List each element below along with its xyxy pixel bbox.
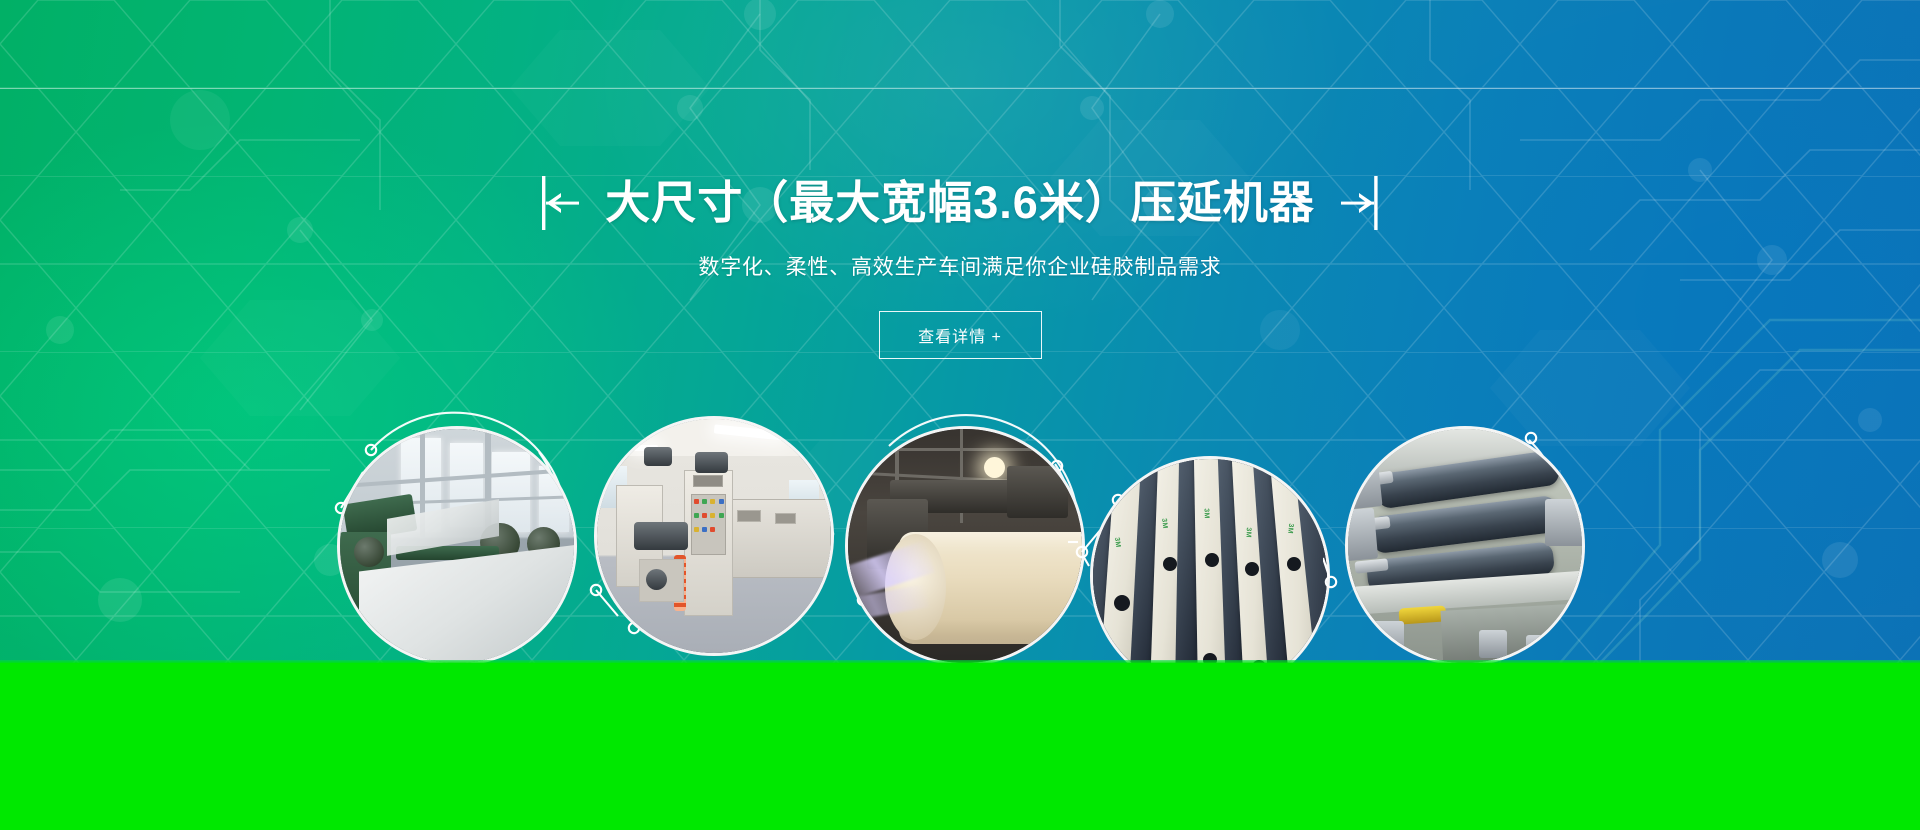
gallery-item-calender-rollers — [1323, 410, 1608, 663]
photo-fabric-roll-winding[interactable] — [845, 426, 1085, 663]
header-divider-line — [0, 88, 1920, 89]
view-details-button[interactable]: 查看详情 + — [879, 311, 1042, 359]
photo-calender-rollers[interactable] — [1345, 426, 1585, 663]
gallery-item-silicone-strips-3m-liner: 3M 3M 3M 3M 3M — [1068, 410, 1348, 663]
page-subtitle: 数字化、柔性、高效生产车间满足你企业硅胶制品需求 — [0, 253, 1920, 283]
hero-copy-block: 大尺寸（最大宽幅3.6米）压延机器 数字化、柔性、高效生产车间满足你企业硅胶制品… — [0, 168, 1920, 359]
photo-silicone-strips-3m-liner[interactable]: 3M 3M 3M 3M 3M — [1090, 456, 1330, 663]
photo-cleanroom-calender-machine[interactable] — [594, 416, 834, 656]
dimension-arrow-left-icon — [539, 174, 583, 232]
dimension-arrow-right-icon — [1337, 174, 1381, 232]
bottom-chroma-bar — [0, 663, 1920, 830]
headline-row: 大尺寸（最大宽幅3.6米）压延机器 — [0, 168, 1920, 238]
gallery-item-calender-production-line — [315, 410, 595, 663]
page-title: 大尺寸（最大宽幅3.6米）压延机器 — [605, 173, 1315, 233]
gallery-item-fabric-roll-winding — [823, 410, 1103, 663]
cta-container: 查看详情 + — [0, 311, 1920, 359]
gallery-item-cleanroom-calender-machine — [572, 410, 852, 663]
image-gallery: 3M 3M 3M 3M 3M — [0, 410, 1920, 663]
hero-banner: 大尺寸（最大宽幅3.6米）压延机器 数字化、柔性、高效生产车间满足你企业硅胶制品… — [0, 0, 1920, 663]
photo-calender-production-line[interactable] — [337, 426, 577, 663]
banner-stage: 大尺寸（最大宽幅3.6米）压延机器 数字化、柔性、高效生产车间满足你企业硅胶制品… — [0, 0, 1920, 830]
